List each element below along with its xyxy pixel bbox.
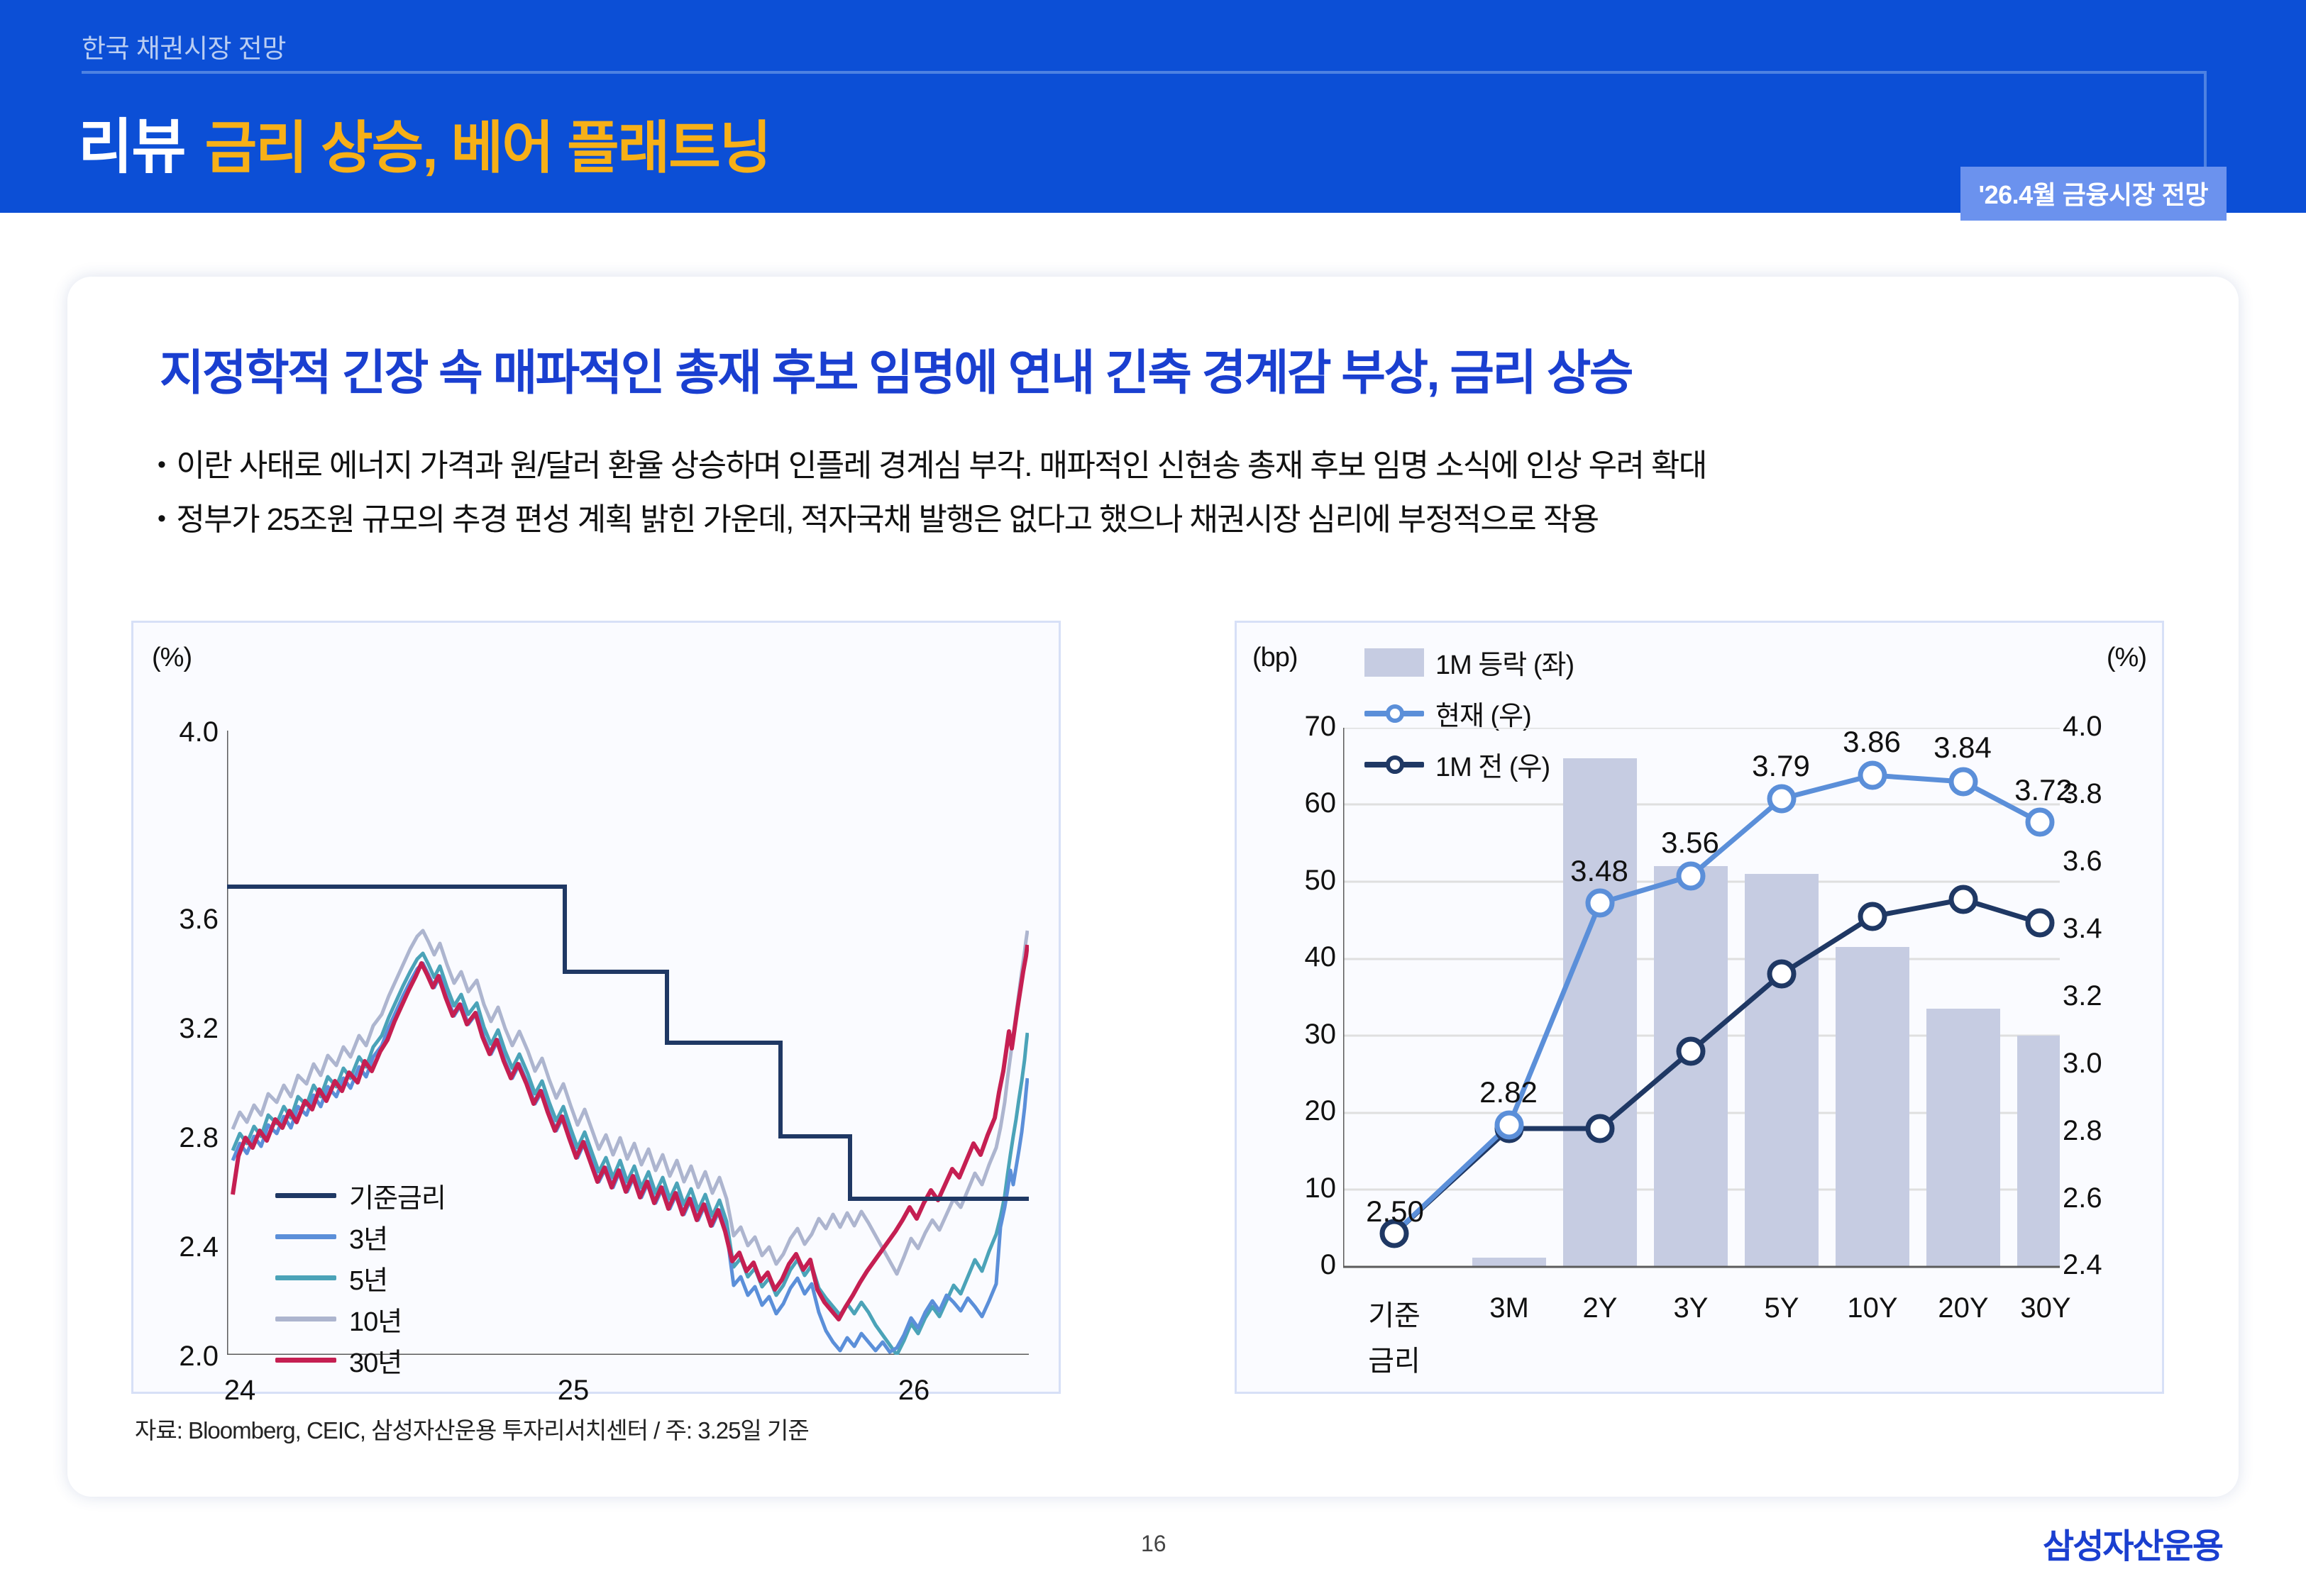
header-divider bbox=[82, 71, 2207, 74]
legend-swatch-icon bbox=[275, 1275, 336, 1280]
title-kicker: 리뷰 bbox=[78, 99, 185, 185]
legend-item-5y: 5년 bbox=[275, 1258, 387, 1297]
list-item: • 정부가 25조원 규모의 추경 편성 계획 밝힌 가운데, 적자국채 발행은… bbox=[158, 501, 2144, 539]
list-item-text: 정부가 25조원 규모의 추경 편성 계획 밝힌 가운데, 적자국채 발행은 없… bbox=[176, 501, 1598, 539]
y-tick-label-left: 40 bbox=[1237, 941, 1336, 973]
x-tick-label: 25 bbox=[531, 1375, 616, 1407]
x-tick-label-sub: 금리 bbox=[1330, 1338, 1458, 1379]
company-logo: 삼성자산운용 bbox=[2043, 1518, 2222, 1568]
legend-swatch-icon bbox=[275, 1193, 336, 1198]
legend-item-current: 현재 (우) bbox=[1364, 694, 1531, 733]
y-tick-label-right: 2.6 bbox=[2063, 1182, 2162, 1214]
page-number: 16 bbox=[1141, 1531, 1166, 1557]
right-chart-right-unit: (%) bbox=[2107, 643, 2146, 673]
legend-item-10y: 10년 bbox=[275, 1299, 402, 1339]
legend-item-base-rate: 기준금리 bbox=[275, 1176, 446, 1215]
page-title: 지정학적 긴장 속 매파적인 총재 후보 임명에 연내 긴축 경계감 부상, 금… bbox=[160, 333, 1632, 404]
y-tick-label-right: 3.6 bbox=[2063, 846, 2162, 877]
legend-label: 3년 bbox=[349, 1217, 387, 1256]
y-tick-label: 2.4 bbox=[133, 1231, 219, 1263]
list-item-text: 이란 사태로 에너지 가격과 원/달러 환율 상승하며 인플레 경계심 부각. … bbox=[176, 447, 1706, 485]
y-tick-label-left: 50 bbox=[1237, 865, 1336, 897]
y-tick-label: 3.6 bbox=[133, 904, 219, 936]
y-tick-label-left: 20 bbox=[1237, 1095, 1336, 1127]
x-tick-label: 기준 bbox=[1330, 1292, 1458, 1334]
legend-label: 5년 bbox=[349, 1258, 387, 1297]
legend-item-3y: 3년 bbox=[275, 1217, 387, 1256]
chart-panel-yield-history: (%) 2.0 2.4 2.8 3.2 3.6 4.0 24 25 26 bbox=[131, 621, 1061, 1394]
y-tick-label: 3.2 bbox=[133, 1013, 219, 1045]
legend-label: 30년 bbox=[349, 1341, 402, 1380]
legend-bar-swatch-icon bbox=[1364, 648, 1424, 677]
bullet-list: • 이란 사태로 에너지 가격과 원/달러 환율 상승하며 인플레 경계심 부각… bbox=[158, 447, 2144, 554]
y-tick-label-left: 10 bbox=[1237, 1173, 1336, 1204]
data-label: 2.82 bbox=[1441, 1075, 1576, 1109]
data-label: 3.84 bbox=[1895, 731, 2030, 765]
y-tick-label-right: 2.4 bbox=[2063, 1249, 2162, 1281]
y-tick-label: 2.0 bbox=[133, 1341, 219, 1373]
right-chart-left-unit: (bp) bbox=[1252, 643, 1298, 673]
legend-label: 10년 bbox=[349, 1299, 402, 1339]
slide-title: 리뷰 금리 상승, 베어 플래트닝 bbox=[78, 99, 770, 185]
chart-panel-curve-change: (bp) (%) 1M 등락 (좌) 현재 (우) 1M 전 (우) 70 60… bbox=[1235, 621, 2164, 1394]
report-badge: '26.4월 금융시장 전망 bbox=[1960, 167, 2227, 221]
data-label: 3.56 bbox=[1623, 826, 1758, 860]
legend-label: 현재 (우) bbox=[1435, 694, 1531, 733]
left-chart-y-unit: (%) bbox=[152, 643, 192, 673]
y-tick-label-right: 3.4 bbox=[2063, 913, 2162, 945]
legend-label: 1M 등락 (좌) bbox=[1435, 643, 1574, 682]
y-tick-label-left: 70 bbox=[1237, 711, 1336, 743]
y-tick-label-left: 30 bbox=[1237, 1019, 1336, 1051]
y-tick-label-right: 2.8 bbox=[2063, 1115, 2162, 1147]
title-main: 금리 상승, 베어 플래트닝 bbox=[205, 102, 771, 184]
x-tick-label: 26 bbox=[871, 1375, 956, 1407]
breadcrumb: 한국 채권시장 전망 bbox=[82, 27, 286, 65]
list-item: • 이란 사태로 에너지 가격과 원/달러 환율 상승하며 인플레 경계심 부각… bbox=[158, 447, 2144, 485]
slide-header: 한국 채권시장 전망 리뷰 금리 상승, 베어 플래트닝 '26.4월 금융시장… bbox=[0, 0, 2306, 213]
legend-label: 기준금리 bbox=[349, 1176, 446, 1215]
bar-20y bbox=[1926, 1009, 2000, 1267]
data-label: 2.50 bbox=[1328, 1195, 1462, 1229]
bar-5y bbox=[1745, 874, 1819, 1267]
bar-3y bbox=[1654, 866, 1728, 1267]
y-tick-label-right: 3.0 bbox=[2063, 1048, 2162, 1080]
y-tick-label-left: 60 bbox=[1237, 787, 1336, 819]
x-tick-label: 24 bbox=[197, 1375, 282, 1407]
bullet-marker: • bbox=[158, 447, 165, 483]
y-tick-label-right: 3.2 bbox=[2063, 980, 2162, 1012]
x-tick-label: 30Y bbox=[1982, 1292, 2109, 1324]
bar-3m bbox=[1472, 1258, 1546, 1267]
data-label: 3.72 bbox=[1976, 773, 2111, 807]
bullet-marker: • bbox=[158, 501, 165, 537]
legend-item-1m-change: 1M 등락 (좌) bbox=[1364, 643, 1574, 682]
legend-swatch-icon bbox=[275, 1317, 336, 1321]
legend-item-30y: 30년 bbox=[275, 1341, 402, 1380]
y-tick-label: 2.8 bbox=[133, 1122, 219, 1154]
y-tick-label: 4.0 bbox=[133, 716, 219, 748]
source-note: 자료: Bloomberg, CEIC, 삼성자산운용 투자리서치센터 / 주:… bbox=[135, 1412, 809, 1446]
bar-10y bbox=[1836, 947, 1909, 1267]
y-tick-label-right: 4.0 bbox=[2063, 711, 2162, 743]
legend-swatch-icon bbox=[275, 1234, 336, 1239]
legend-line-swatch-icon bbox=[1364, 711, 1424, 716]
legend-swatch-icon bbox=[275, 1358, 336, 1363]
bar-30y bbox=[2017, 1036, 2060, 1267]
y-tick-label-left: 0 bbox=[1237, 1249, 1336, 1281]
